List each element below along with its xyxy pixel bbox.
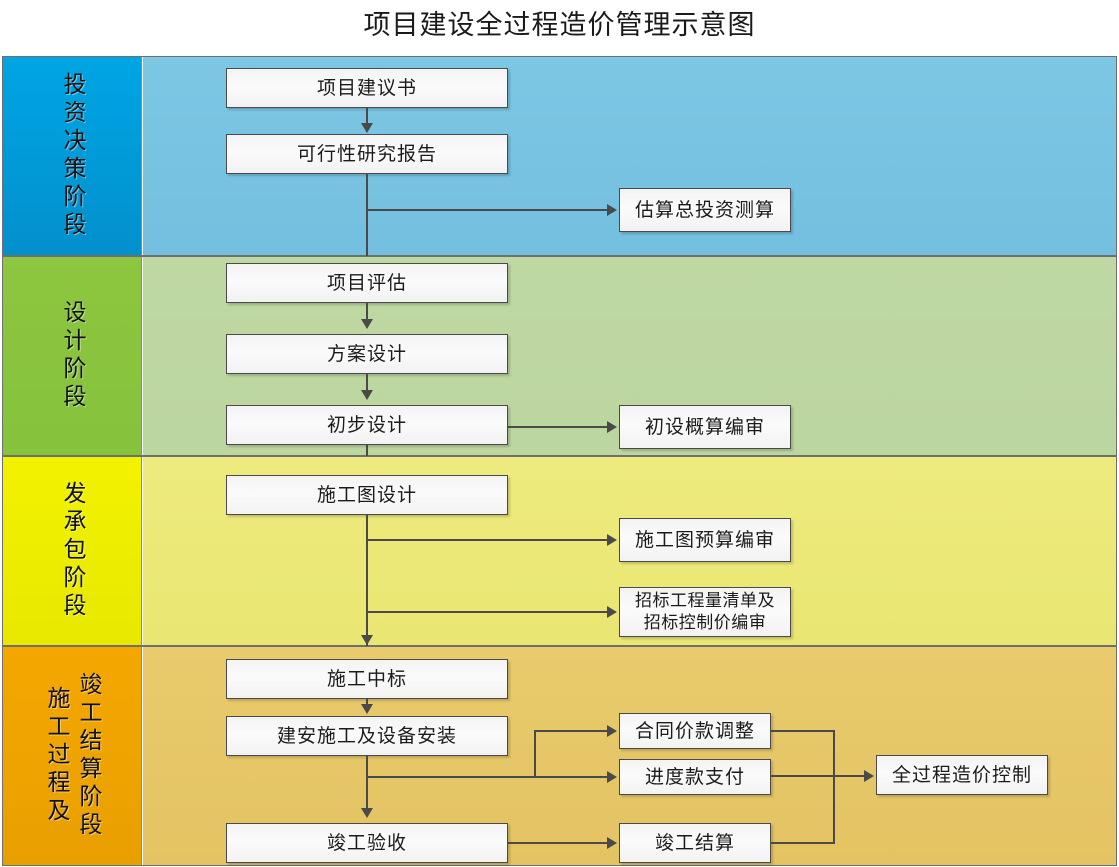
arrowhead-right [607, 606, 617, 618]
stage-label-contracting: 发承包阶段 [57, 481, 87, 621]
node-construction-bid-won[interactable]: 施工中标 [226, 659, 508, 699]
node-completion-acceptance[interactable]: 竣工验收 [226, 823, 508, 863]
connector-bus-riser-to-adjustment [534, 730, 536, 777]
node-progress-payment[interactable]: 进度款支付 [619, 759, 771, 795]
node-whole-process-cost-control[interactable]: 全过程造价控制 [876, 755, 1048, 795]
node-drawing-budget-review[interactable]: 施工图预算编审 [619, 518, 791, 562]
stage-design: 设计阶段 项目评估 方案设计 初步设计 初设概算编审 [2, 256, 1117, 456]
arrowhead-down [361, 635, 373, 645]
connector-branch-to-drawing-budget [366, 539, 609, 541]
connector-appraisal-to-scheme [366, 303, 368, 320]
connector-scheme-to-preliminary [366, 374, 368, 391]
connector-acceptance-to-settlement [508, 842, 609, 844]
connector-riser-to-adjustment [534, 730, 609, 732]
connector-spine-to-payment-bus [366, 776, 609, 778]
stage-investment-decision: 投资决策阶段 项目建议书 可行性研究报告 估算总投资测算 [2, 56, 1117, 256]
node-tender-boq-and-control-price[interactable]: 招标工程量清单及 招标控制价编审 [619, 587, 791, 637]
node-scheme-design[interactable]: 方案设计 [226, 334, 508, 374]
connector-settlement-to-bus [771, 842, 834, 844]
flowchart-diagram: 投资决策阶段 项目建议书 可行性研究报告 估算总投资测算 设计阶段 项目评估 [2, 56, 1117, 866]
node-total-investment-estimate[interactable]: 估算总投资测算 [619, 188, 791, 232]
band-label-group: 设计阶段 [3, 257, 141, 455]
arrowhead-right [607, 204, 617, 216]
arrowhead-right [607, 534, 617, 546]
node-line-1: 招标工程量清单及 [635, 590, 775, 612]
stage-label-construction-process: 施工过程及 [41, 686, 71, 826]
connector-right-collector-bus [833, 730, 835, 844]
arrowhead-right [607, 421, 617, 433]
stage-body-contracting: 施工图设计 施工图预算编审 招标工程量清单及 招标控制价编审 [143, 457, 1116, 645]
connector-proposal-to-feasibility [366, 108, 368, 124]
band-label-group: 竣工结算阶段 施工过程及 [3, 647, 141, 865]
stage-band-design: 设计阶段 [3, 257, 142, 455]
stage-label-design: 设计阶段 [57, 300, 87, 412]
connector-preliminary-to-budget-review [508, 426, 609, 428]
stage-body-construction-settlement: 施工中标 建安施工及设备安装 竣工验收 合同价款调整 进度款支付 竣工结算 全过… [143, 647, 1116, 865]
node-construction-drawing-design[interactable]: 施工图设计 [226, 475, 508, 515]
node-feasibility-report[interactable]: 可行性研究报告 [226, 134, 508, 174]
arrowhead-right [607, 725, 617, 737]
connector-branch-to-estimate [366, 209, 609, 211]
arrowhead-right [607, 771, 617, 783]
page-title: 项目建设全过程造价管理示意图 [0, 2, 1119, 48]
node-preliminary-budget-review[interactable]: 初设概算编审 [619, 405, 791, 449]
stage-body-design: 项目评估 方案设计 初步设计 初设概算编审 [143, 257, 1116, 455]
stage-construction-settlement: 竣工结算阶段 施工过程及 施工中标 建安施工及设备安装 竣工验收 合同价款调整 … [2, 646, 1117, 866]
arrowhead-down [361, 390, 373, 400]
stage-band-construction-settlement: 竣工结算阶段 施工过程及 [3, 647, 142, 865]
node-construction-and-equipment-install[interactable]: 建安施工及设备安装 [226, 716, 508, 756]
node-line-2: 招标控制价编审 [644, 612, 767, 634]
arrowhead-down [361, 123, 373, 133]
node-preliminary-design[interactable]: 初步设计 [226, 405, 508, 445]
connector-branch-to-tender-boq [366, 611, 609, 613]
arrowhead-right [607, 837, 617, 849]
stage-band-contracting: 发承包阶段 [3, 457, 142, 645]
connector-adjustment-to-bus [771, 730, 834, 732]
connector-construction-down [366, 756, 368, 809]
stage-label-settlement: 竣工结算阶段 [73, 672, 103, 840]
arrowhead-right [864, 770, 874, 782]
arrowhead-down [361, 704, 373, 714]
connector-bus-to-cost-control [771, 775, 866, 777]
node-final-settlement[interactable]: 竣工结算 [619, 823, 771, 863]
node-contract-price-adjustment[interactable]: 合同价款调整 [619, 713, 771, 749]
stage-band-investment-decision: 投资决策阶段 [3, 57, 142, 255]
stage-contracting: 发承包阶段 施工图设计 施工图预算编审 招标工程量清单及 招标控制价编审 [2, 456, 1117, 646]
arrowhead-down [361, 319, 373, 329]
node-project-proposal[interactable]: 项目建议书 [226, 68, 508, 108]
connector-drawing-design-down [366, 515, 368, 647]
arrowhead-down [361, 808, 373, 818]
stage-label-investment-decision: 投资决策阶段 [57, 72, 87, 240]
node-project-appraisal[interactable]: 项目评估 [226, 263, 508, 303]
band-label-group: 发承包阶段 [3, 457, 141, 645]
band-label-group: 投资决策阶段 [3, 57, 141, 255]
connector-feasibility-down [366, 174, 368, 257]
stage-body-investment-decision: 项目建议书 可行性研究报告 估算总投资测算 [143, 57, 1116, 255]
